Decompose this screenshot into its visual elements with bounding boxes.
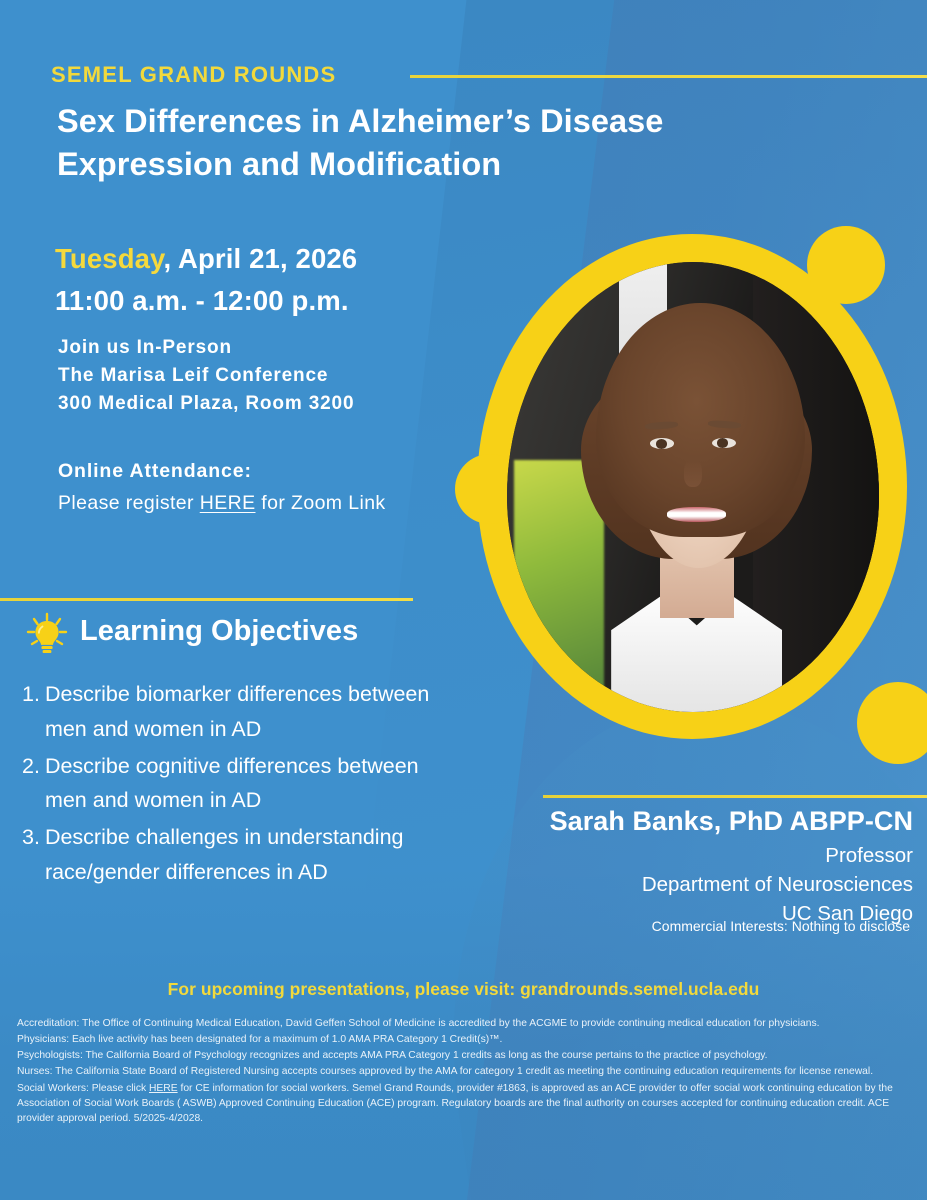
lightbulb-icon (23, 611, 71, 659)
speaker-department: Department of Neurosciences (413, 870, 913, 899)
title-line-2: Expression and Modification (57, 143, 757, 186)
list-item: 3. Describe challenges in understanding … (22, 820, 437, 890)
legal-accreditation: Accreditation: The Office of Continuing … (17, 1016, 910, 1031)
list-item-text: Describe challenges in understanding rac… (45, 820, 437, 890)
list-item-number: 2. (22, 749, 40, 819)
list-item-text: Describe biomarker differences between m… (45, 677, 437, 747)
page-title: Sex Differences in Alzheimer’s Disease E… (57, 100, 757, 186)
list-item-number: 3. (22, 820, 40, 890)
list-item-number: 1. (22, 677, 40, 747)
online-attendance-body: Please register HERE for Zoom Link (58, 489, 398, 519)
learning-objectives-divider-rule (0, 598, 413, 601)
speaker-title: Professor (413, 841, 913, 870)
photo-mouth (667, 507, 727, 521)
legal-physicians: Physicians: Each live activity has been … (17, 1032, 910, 1047)
speaker-affiliation: Professor Department of Neurosciences UC… (413, 841, 913, 928)
list-item: 1. Describe biomarker differences betwee… (22, 677, 437, 747)
legal-psychologists: Psychologists: The California Board of P… (17, 1048, 910, 1063)
event-date: Tuesday, April 21, 2026 (55, 243, 357, 275)
register-text-before: Please register (58, 492, 200, 514)
event-date-rest: , April 21, 2026 (163, 243, 357, 274)
legal-sw-before: Social Workers: Please click (17, 1083, 149, 1094)
upcoming-presentations-note[interactable]: For upcoming presentations, please visit… (0, 979, 927, 1000)
photo-nose (684, 460, 703, 487)
legal-sw-here-link[interactable]: HERE (149, 1083, 178, 1094)
speaker-disclosure: Commercial Interests: Nothing to disclos… (652, 918, 910, 934)
avatar (507, 262, 879, 712)
title-line-1: Sex Differences in Alzheimer’s Disease (57, 100, 757, 143)
photo-pupil-right (717, 438, 728, 448)
venue-line-3: 300 Medical Plaza, Room 3200 (58, 390, 458, 418)
speaker-photo-composition (455, 222, 927, 802)
event-venue: Join us In-Person The Marisa Leif Confer… (58, 334, 458, 418)
register-text-after: for Zoom Link (255, 492, 385, 514)
event-weekday: Tuesday (55, 243, 163, 274)
learning-objectives-heading: Learning Objectives (80, 615, 358, 648)
online-attendance-heading: Online Attendance: (58, 460, 252, 483)
speaker-name: Sarah Banks, PhD ABPP-CN (550, 806, 913, 837)
series-kicker: SEMEL GRAND ROUNDS (51, 62, 336, 88)
speaker-divider-rule (543, 795, 927, 798)
event-time: 11:00 a.m. - 12:00 p.m. (55, 285, 349, 317)
learning-objectives-list: 1. Describe biomarker differences betwee… (22, 677, 437, 892)
venue-line-2: The Marisa Leif Conference (58, 362, 458, 390)
photo-pupil-left (656, 439, 667, 449)
accreditation-text: Accreditation: The Office of Continuing … (17, 1016, 910, 1127)
legal-nurses: Nurses: The California State Board of Re… (17, 1064, 910, 1079)
legal-social-workers: Social Workers: Please click HERE for CE… (17, 1081, 910, 1126)
venue-line-1: Join us In-Person (58, 334, 458, 362)
header-divider-rule (410, 75, 927, 78)
poster-canvas: SEMEL GRAND ROUNDS Sex Differences in Al… (0, 0, 927, 1200)
list-item: 2. Describe cognitive differences betwee… (22, 749, 437, 819)
list-item-text: Describe cognitive differences between m… (45, 749, 437, 819)
register-here-link[interactable]: HERE (200, 492, 256, 514)
